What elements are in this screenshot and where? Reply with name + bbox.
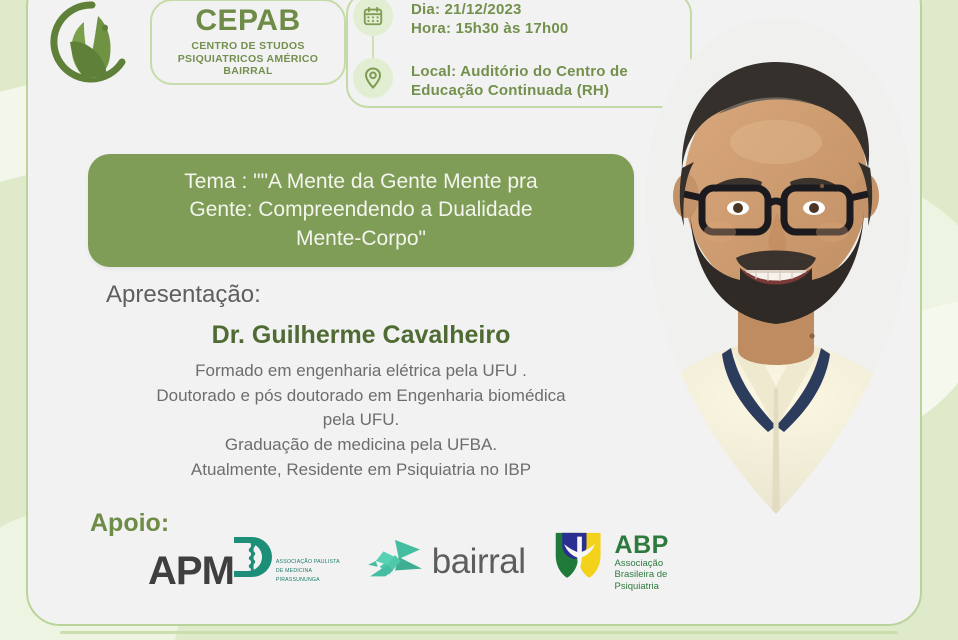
event-poster: CEPAB CENTRO DE STUDOS PSIQUIATRICOS AMÉ… xyxy=(0,0,958,640)
cepab-head-leaf-logo-icon xyxy=(50,0,134,84)
background-bottom-rule xyxy=(60,631,898,634)
apm-subtitle-line-2: DE MEDICINA xyxy=(276,567,340,576)
speaker-bio-line-4: Graduação de medicina pela UFBA. xyxy=(80,433,642,458)
speaker-portrait-photo xyxy=(626,18,922,514)
abp-text-block: ABP Associação Brasileira de Psiquiatria xyxy=(615,532,669,593)
cepab-name-frame: CEPAB CENTRO DE STUDOS PSIQUIATRICOS AMÉ… xyxy=(150,0,346,85)
apm-wordmark: APM xyxy=(148,553,234,589)
abp-subtitle-line-3: Psiquiatria xyxy=(615,581,669,593)
location-pin-icon xyxy=(353,58,393,98)
cepab-full-name-line-2: PSIQUIATRICOS AMÉRICO xyxy=(178,53,318,65)
cepab-full-name-line-1: CENTRO DE STUDOS xyxy=(178,40,318,52)
bairral-wordmark: bairral xyxy=(432,542,526,582)
theme-banner: Tema : ""A Mente da Gente Mente pra Gent… xyxy=(88,154,634,267)
logo-bairral: bairral xyxy=(366,536,526,589)
logo-abp: ABP Associação Brasileira de Psiquiatria xyxy=(552,531,669,594)
theme-line-3: Mente-Corpo" xyxy=(184,225,537,253)
theme-line-2: Gente: Compreendendo a Dualidade xyxy=(184,196,537,224)
apm-subtitle-line-1: ASSOCIAÇÃO PAULISTA xyxy=(276,558,340,567)
abp-wordmark: ABP xyxy=(615,532,669,558)
event-date-line: Dia: 21/12/2023 xyxy=(411,0,568,19)
abp-subtitle-line-1: Associação xyxy=(615,558,669,570)
abp-subtitle: Associação Brasileira de Psiquiatria xyxy=(615,558,669,593)
theme-text: Tema : ""A Mente da Gente Mente pra Gent… xyxy=(166,168,555,252)
brazil-shield-icon xyxy=(552,531,608,594)
speaker-name: Dr. Guilherme Cavalheiro xyxy=(88,321,634,350)
speaker-bio-line-5: Atualmente, Residente em Psiquiatria no … xyxy=(80,458,642,483)
speaker-bio: Formado em engenharia elétrica pela UFU … xyxy=(80,359,642,482)
support-logo-row: APM ASSOCIAÇÃO PAULISTA DE MEDICINA PIRA… xyxy=(148,522,668,602)
poster-card: CEPAB CENTRO DE STUDOS PSIQUIATRICOS AMÉ… xyxy=(26,0,922,626)
event-datetime: Dia: 21/12/2023 Hora: 15h30 às 17h00 xyxy=(411,0,568,38)
cepab-full-name-line-3: BAIRRAL xyxy=(178,65,318,77)
speaker-bio-line-2: Doutorado e pós doutorado em Engenharia … xyxy=(80,384,642,409)
cepab-acronym: CEPAB xyxy=(195,6,300,36)
speaker-bio-line-3: pela UFU. xyxy=(80,408,642,433)
abp-subtitle-line-2: Brasileira de xyxy=(615,569,669,581)
apm-subtitle-line-3: PIRASSUNUNGA xyxy=(276,576,340,585)
event-time-line: Hora: 15h30 às 17h00 xyxy=(411,19,568,38)
logo-apm: APM ASSOCIAÇÃO PAULISTA DE MEDICINA PIRA… xyxy=(148,535,340,589)
origami-crane-icon xyxy=(366,536,424,589)
theme-line-1: Tema : ""A Mente da Gente Mente pra xyxy=(184,168,537,196)
presentation-label: Apresentação: xyxy=(106,281,261,309)
asclepius-rod-icon xyxy=(232,535,274,587)
speaker-bio-line-1: Formado em engenharia elétrica pela UFU … xyxy=(80,359,642,384)
cepab-full-name: CENTRO DE STUDOS PSIQUIATRICOS AMÉRICO B… xyxy=(178,40,318,77)
apm-subtitle: ASSOCIAÇÃO PAULISTA DE MEDICINA PIRASSUN… xyxy=(276,558,340,585)
